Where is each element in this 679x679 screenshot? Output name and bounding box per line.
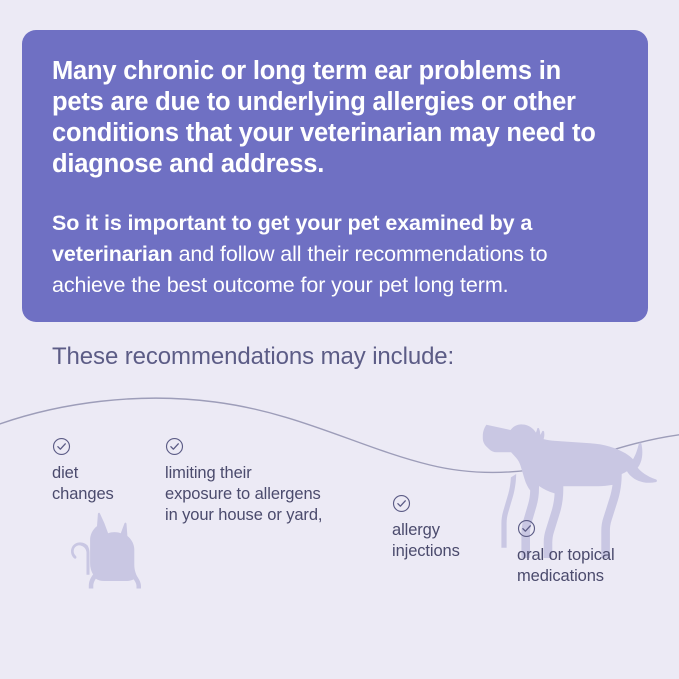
list-item-label: allergy injections	[392, 520, 522, 562]
list-item: oral or topical medications	[517, 519, 667, 587]
list-item: diet changes	[52, 437, 162, 505]
list-item: limiting their exposure to allergens in …	[165, 437, 365, 526]
check-circle-icon	[517, 519, 536, 538]
cat-silhouette-icon	[71, 513, 141, 589]
check-circle-icon	[52, 437, 71, 456]
callout-card: Many chronic or long term ear problems i…	[22, 30, 648, 322]
recommendations-heading: These recommendations may include:	[52, 342, 454, 372]
list-item-label: oral or topical medications	[517, 545, 667, 587]
list-item-label: diet changes	[52, 463, 162, 505]
list-item: allergy injections	[392, 494, 522, 562]
check-circle-icon	[392, 494, 411, 513]
callout-lead-text: Many chronic or long term ear problems i…	[52, 56, 612, 180]
list-item-label: limiting their exposure to allergens in …	[165, 463, 365, 526]
check-circle-icon	[165, 437, 184, 456]
callout-body-text: So it is important to get your pet exami…	[52, 208, 618, 301]
